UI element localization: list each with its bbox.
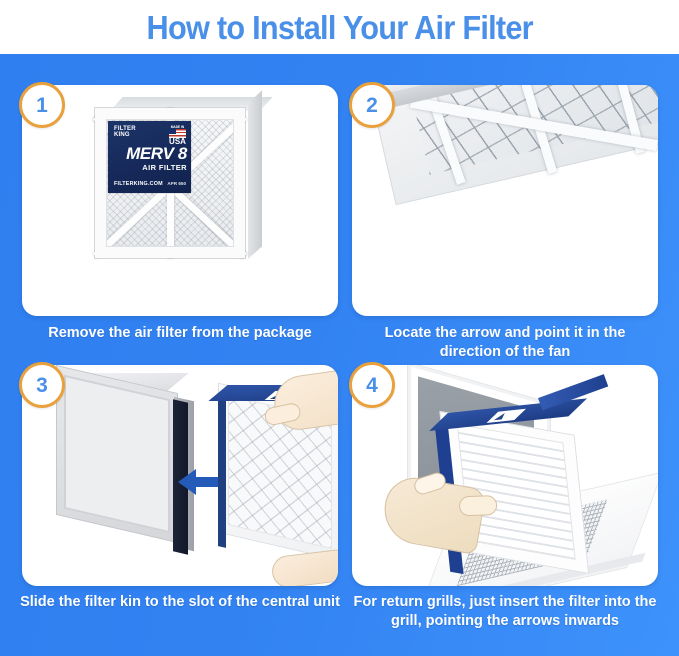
- steps-stage: FILTER KING MADE IN USA MERV 8 AIR FILTE…: [0, 54, 679, 656]
- step-panel-3: 3 Slide the filter kin to the slot of th…: [22, 365, 338, 586]
- step-number-3: 3: [36, 375, 48, 396]
- step-panel-2: Air Filter AIRFLOW 2 Locate the arrow an…: [352, 85, 658, 316]
- step-number-2: 2: [366, 95, 378, 116]
- step-card-1: FILTER KING MADE IN USA MERV 8 AIR FILTE…: [22, 85, 338, 316]
- step-3-illustration: [22, 365, 338, 586]
- step-panel-1: FILTER KING MADE IN USA MERV 8 AIR FILTE…: [22, 85, 338, 316]
- step-badge-3: 3: [19, 362, 65, 408]
- step-caption-2: Locate the arrow and point it in the dir…: [352, 324, 658, 362]
- merv-rating: MERV 8: [108, 145, 187, 162]
- brand-logo: FILTER KING: [114, 126, 136, 138]
- infographic-page: How to Install Your Air Filter: [0, 0, 679, 656]
- usa-flag-icon: [169, 129, 186, 138]
- filter-corner-photo: Air Filter AIRFLOW: [352, 85, 658, 309]
- product-type: AIR FILTER: [108, 164, 187, 172]
- step-badge-2: 2: [349, 82, 395, 128]
- step-caption-4: For return grills, just insert the filte…: [352, 593, 658, 631]
- step-badge-1: 1: [19, 82, 65, 128]
- step-1-illustration: FILTER KING MADE IN USA MERV 8 AIR FILTE…: [22, 85, 338, 316]
- title-bar: How to Install Your Air Filter: [0, 0, 679, 54]
- filter-face: FILTER KING MADE IN USA MERV 8 AIR FILTE…: [94, 107, 246, 259]
- step-number-4: 4: [366, 375, 378, 396]
- made-in-usa-badge: MADE IN USA: [169, 125, 186, 146]
- step-4-illustration: [352, 365, 658, 586]
- filter-corner-body: Air Filter AIRFLOW: [362, 85, 658, 250]
- step-card-4: [352, 365, 658, 586]
- air-filter-photo: FILTER KING MADE IN USA MERV 8 AIR FILTE…: [94, 97, 262, 265]
- step-2-illustration: Air Filter AIRFLOW: [352, 85, 658, 316]
- apr-rating: APR 650: [167, 181, 186, 187]
- step-caption-1: Remove the air filter from the package: [16, 324, 344, 343]
- step-number-1: 1: [36, 95, 48, 116]
- hand-upper: [271, 367, 338, 433]
- filter-left-edge-3: [218, 396, 226, 548]
- step-caption-3: Slide the filter kin to the slot of the …: [18, 593, 342, 612]
- step-card-3: [22, 365, 338, 586]
- arrow-head: [178, 469, 196, 495]
- brand-line-2: KING: [114, 132, 136, 138]
- unit-slot-front: [56, 365, 178, 543]
- filter-product-label: FILTER KING MADE IN USA MERV 8 AIR FILTE…: [108, 121, 191, 193]
- website-text: FILTERKING.COM: [114, 181, 163, 187]
- step-panel-4: 4 For return grills, just insert the fil…: [352, 365, 658, 586]
- step-card-2: Air Filter AIRFLOW: [352, 85, 658, 316]
- step-badge-4: 4: [349, 362, 395, 408]
- page-title: How to Install Your Air Filter: [146, 11, 532, 44]
- filter-side-edge: [248, 90, 262, 259]
- unit-slot-opening: [64, 375, 170, 533]
